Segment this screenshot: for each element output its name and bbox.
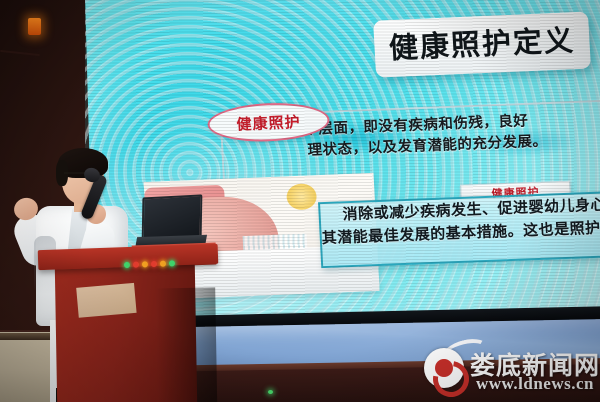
watermark: 娄底新闻网 www.ldnews.cn bbox=[420, 340, 596, 396]
podium-led-icon bbox=[124, 262, 130, 268]
watermark-logo-icon bbox=[424, 348, 464, 388]
podium-led-icon bbox=[151, 261, 157, 267]
podium-led-icon bbox=[160, 261, 166, 267]
podium-shadow bbox=[155, 287, 217, 402]
podium-led-icon bbox=[142, 261, 148, 267]
podium-side-panel bbox=[76, 283, 136, 318]
podium bbox=[38, 247, 218, 402]
orange-indicator-light-icon bbox=[28, 18, 41, 35]
screenshot-root: 健康照护定义 主要包括三个层面，即没有疾病和伤残，良好 理状态，以及发育潜能的充… bbox=[0, 0, 600, 402]
podium-body bbox=[55, 264, 197, 402]
watermark-url: www.ldnews.cn bbox=[476, 374, 594, 394]
podium-led-icon bbox=[133, 262, 139, 268]
stage-status-led-icon bbox=[268, 390, 273, 394]
podium-led-icon bbox=[169, 260, 175, 266]
